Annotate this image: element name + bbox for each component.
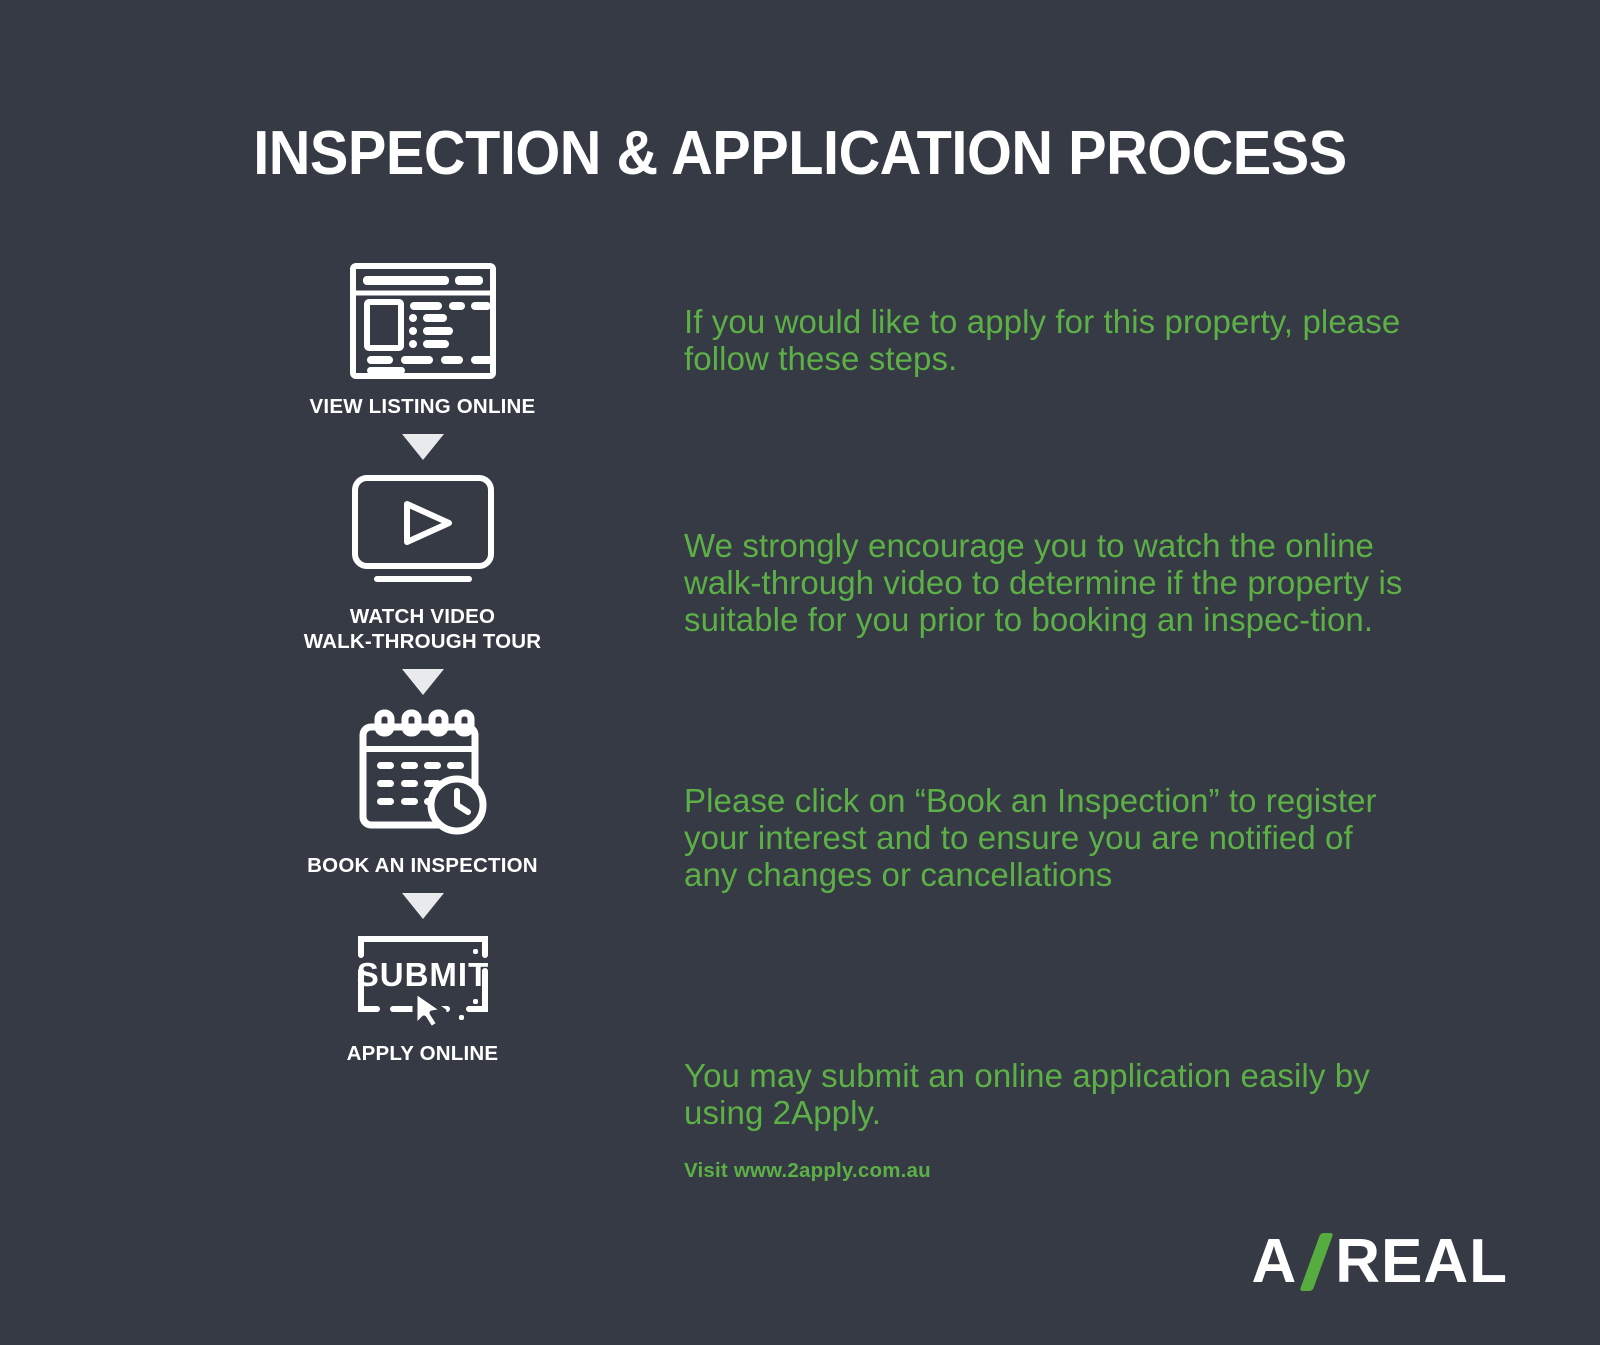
page-title: INSPECTION & APPLICATION PROCESS [56, 118, 1544, 189]
logo-slash-icon [1301, 1231, 1331, 1293]
brand-logo: A REAL [1251, 1226, 1508, 1297]
description-book-inspection: Please click on “Book an Inspection” to … [684, 783, 1404, 894]
down-triangle-icon-2 [402, 669, 444, 695]
step-label-view-listing: VIEW LISTING ONLINE [255, 394, 590, 420]
step-book-inspection: BOOK AN INSPECTION [255, 707, 590, 919]
logo-letter-a: A [1251, 1226, 1297, 1297]
video-play-monitor-icon [349, 472, 497, 590]
step-apply-online: SUBMIT APPLY ONLINE [255, 931, 590, 1067]
svg-text:SUBMIT: SUBMIT [356, 956, 489, 993]
submit-button-cursor-icon-wrap: SUBMIT [255, 931, 590, 1027]
description-watch-video: We strongly encourage you to watch the o… [684, 528, 1404, 639]
down-triangle-icon-3 [402, 893, 444, 919]
down-triangle-icon-1 [402, 434, 444, 460]
calendar-clock-icon [353, 707, 493, 839]
calendar-clock-icon-wrap [255, 707, 590, 839]
description-apply-online: You may submit an online application eas… [684, 1058, 1404, 1132]
listing-window-icon [349, 262, 497, 380]
step-watch-video: WATCH VIDEO WALK-THROUGH TOUR [255, 472, 590, 695]
steps-column: VIEW LISTING ONLINE WATCH VIDEO WALK-THR… [255, 262, 590, 1066]
visit-url-text[interactable]: Visit www.2apply.com.au [684, 1159, 931, 1183]
step-view-listing: VIEW LISTING ONLINE [255, 262, 590, 460]
step-label-apply-online: APPLY ONLINE [255, 1041, 590, 1067]
submit-button-cursor-icon: SUBMIT [347, 931, 499, 1027]
step-label-watch-video: WATCH VIDEO WALK-THROUGH TOUR [255, 604, 590, 655]
logo-word-real: REAL [1335, 1226, 1508, 1297]
video-play-monitor-icon-wrap [255, 472, 590, 590]
description-view-listing: If you would like to apply for this prop… [684, 304, 1404, 378]
listing-window-icon-wrap [255, 262, 590, 380]
poster-root: INSPECTION & APPLICATION PROCESS [0, 0, 1600, 1345]
step-label-book-inspection: BOOK AN INSPECTION [255, 853, 590, 879]
